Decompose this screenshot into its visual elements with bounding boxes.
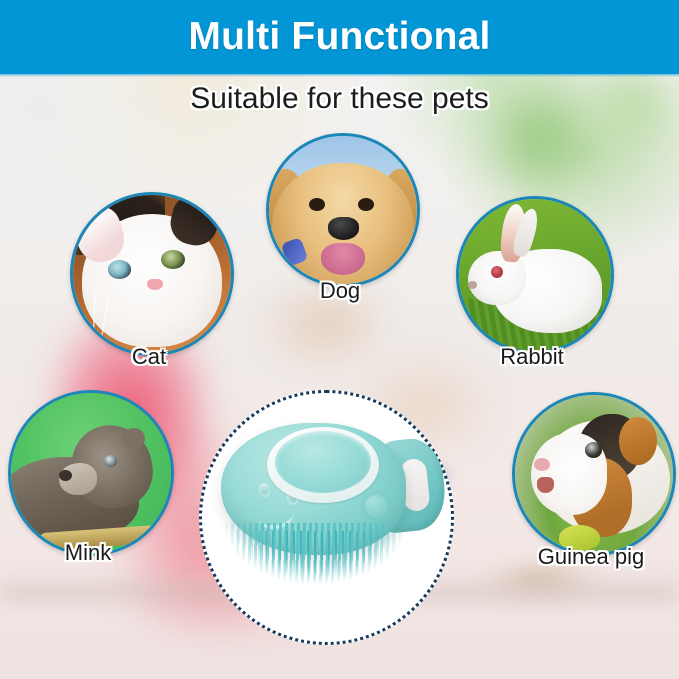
header-banner: Multi Functional: [0, 0, 679, 74]
guinea-pig-illustration: [515, 395, 673, 553]
pet-photo-dog: [266, 133, 420, 287]
pet-card-mink: Mink: [8, 390, 168, 550]
banner-shadow-edge: [0, 74, 679, 77]
rabbit-illustration: [459, 199, 611, 351]
pet-card-dog: Dog: [266, 133, 414, 281]
product-image-bath-brush: [215, 415, 440, 605]
product-infographic: Multi Functional Suitable for these pets…: [0, 0, 679, 679]
pet-label-cat: Cat: [39, 344, 259, 370]
pet-label-dog: Dog: [230, 278, 450, 304]
pet-photo-mink: [8, 390, 174, 556]
pet-card-cat: Cat: [70, 192, 228, 350]
brush-side-button: [361, 491, 391, 521]
pet-label-mink: Mink: [0, 540, 198, 566]
pet-photo-cat: [70, 192, 234, 356]
pet-label-rabbit: Rabbit: [422, 344, 642, 370]
pet-label-guinea-pig: Guinea pig: [481, 544, 679, 570]
subtitle: Suitable for these pets: [0, 82, 679, 116]
brush-dispenser-cap: [275, 431, 371, 493]
brush-face-eye-left: [258, 482, 272, 498]
banner-title: Multi Functional: [188, 15, 490, 59]
brush-bristles-inner: [237, 531, 395, 579]
mink-illustration: [11, 393, 171, 553]
pet-card-rabbit: Rabbit: [456, 196, 608, 348]
pet-photo-rabbit: [456, 196, 614, 354]
dog-illustration: [269, 136, 417, 284]
pet-photo-guinea-pig: [512, 392, 676, 556]
cat-illustration: [73, 195, 231, 353]
pet-card-guinea-pig: Guinea pig: [512, 392, 670, 550]
